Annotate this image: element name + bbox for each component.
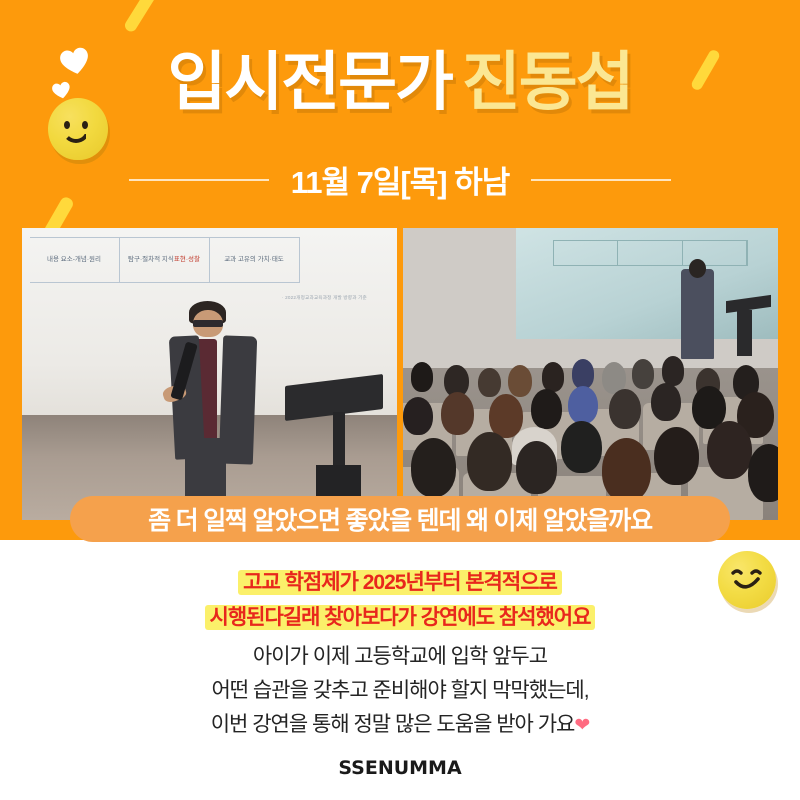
divider-left xyxy=(129,179,269,181)
heart-icon: ❤ xyxy=(574,715,589,736)
highlight-banner: 좀 더 일찍 알았으면 좋았을 텐데 왜 이제 알았을까요 xyxy=(70,496,730,542)
subtitle-text: 11월 7일[목] 하남 xyxy=(291,157,509,202)
banner-text: 좀 더 일찍 알았으면 좋았을 텐데 왜 이제 알았을까요 xyxy=(148,501,652,537)
title-accent-text: 진동섭 xyxy=(462,46,633,118)
highlight-line-text: 시행된다길래 찾아보다가 강연에도 참석했어요 xyxy=(205,605,596,630)
promo-card: 입시전문가진동섭 11월 7일[목] 하남 내용 요소-개념·원리 탐구·절차적… xyxy=(0,0,800,800)
plain-line-text: 이번 강연을 통해 정말 많은 도움을 받아 가요 xyxy=(211,713,575,736)
footer-logo: SSENUMMA xyxy=(0,757,800,779)
subtitle-row: 11월 7일[목] 하남 xyxy=(0,157,800,202)
highlight-line-text: 고교 학점제가 2025년부터 본격적으로 xyxy=(238,570,562,595)
plain-line: 아이가 이제 고등학교에 입학 앞두고 xyxy=(0,640,800,674)
lecture-audience-photo xyxy=(403,228,778,520)
header-section: 입시전문가진동섭 11월 7일[목] 하남 내용 요소-개념·원리 탐구·절차적… xyxy=(0,0,800,540)
title-main-text: 입시전문가 xyxy=(167,46,451,118)
divider-right xyxy=(531,179,671,181)
highlight-line: 시행된다길래 찾아보다가 강연에도 참석했어요 xyxy=(0,601,800,631)
winking-smiley-icon xyxy=(718,551,776,609)
slide-cell: 교과 고유의 가치·태도 xyxy=(210,238,300,283)
lecture-speaker-photo: 내용 요소-개념·원리 탐구·절차적 지식표현·성찰 교과 고유의 가치·태도 … xyxy=(22,228,397,520)
plain-line: 어떤 습관을 갖추고 준비해야 할지 막막했는데, xyxy=(0,674,800,708)
page-title: 입시전문가진동섭 xyxy=(0,48,800,117)
slide-table: 내용 요소-개념·원리 탐구·절차적 지식표현·성찰 교과 고유의 가치·태도 xyxy=(30,237,300,284)
slide-cell: 탐구·절차적 지식표현·성찰 xyxy=(120,238,210,283)
slide-cell: 내용 요소-개념·원리 xyxy=(30,238,120,283)
highlight-line: 고교 학점제가 2025년부터 본격적으로 xyxy=(0,566,800,596)
slide-table xyxy=(553,240,748,266)
plain-text-block: 아이가 이제 고등학교에 입학 앞두고 어떤 습관을 갖추고 준비해야 할지 막… xyxy=(0,640,800,742)
photo-gallery: 내용 요소-개념·원리 탐구·절차적 지식표현·성찰 교과 고유의 가치·태도 … xyxy=(22,228,778,520)
highlighted-text-block: 고교 학점제가 2025년부터 본격적으로 시행된다길래 찾아보다가 강연에도 … xyxy=(0,566,800,636)
plain-line-with-heart: 이번 강연을 통해 정말 많은 도움을 받아 가요❤ xyxy=(0,708,800,742)
slide-note: · 2022개정교과교육과정 개발 방향과 기준 xyxy=(282,295,367,301)
diagonal-dash-icon xyxy=(123,0,158,34)
